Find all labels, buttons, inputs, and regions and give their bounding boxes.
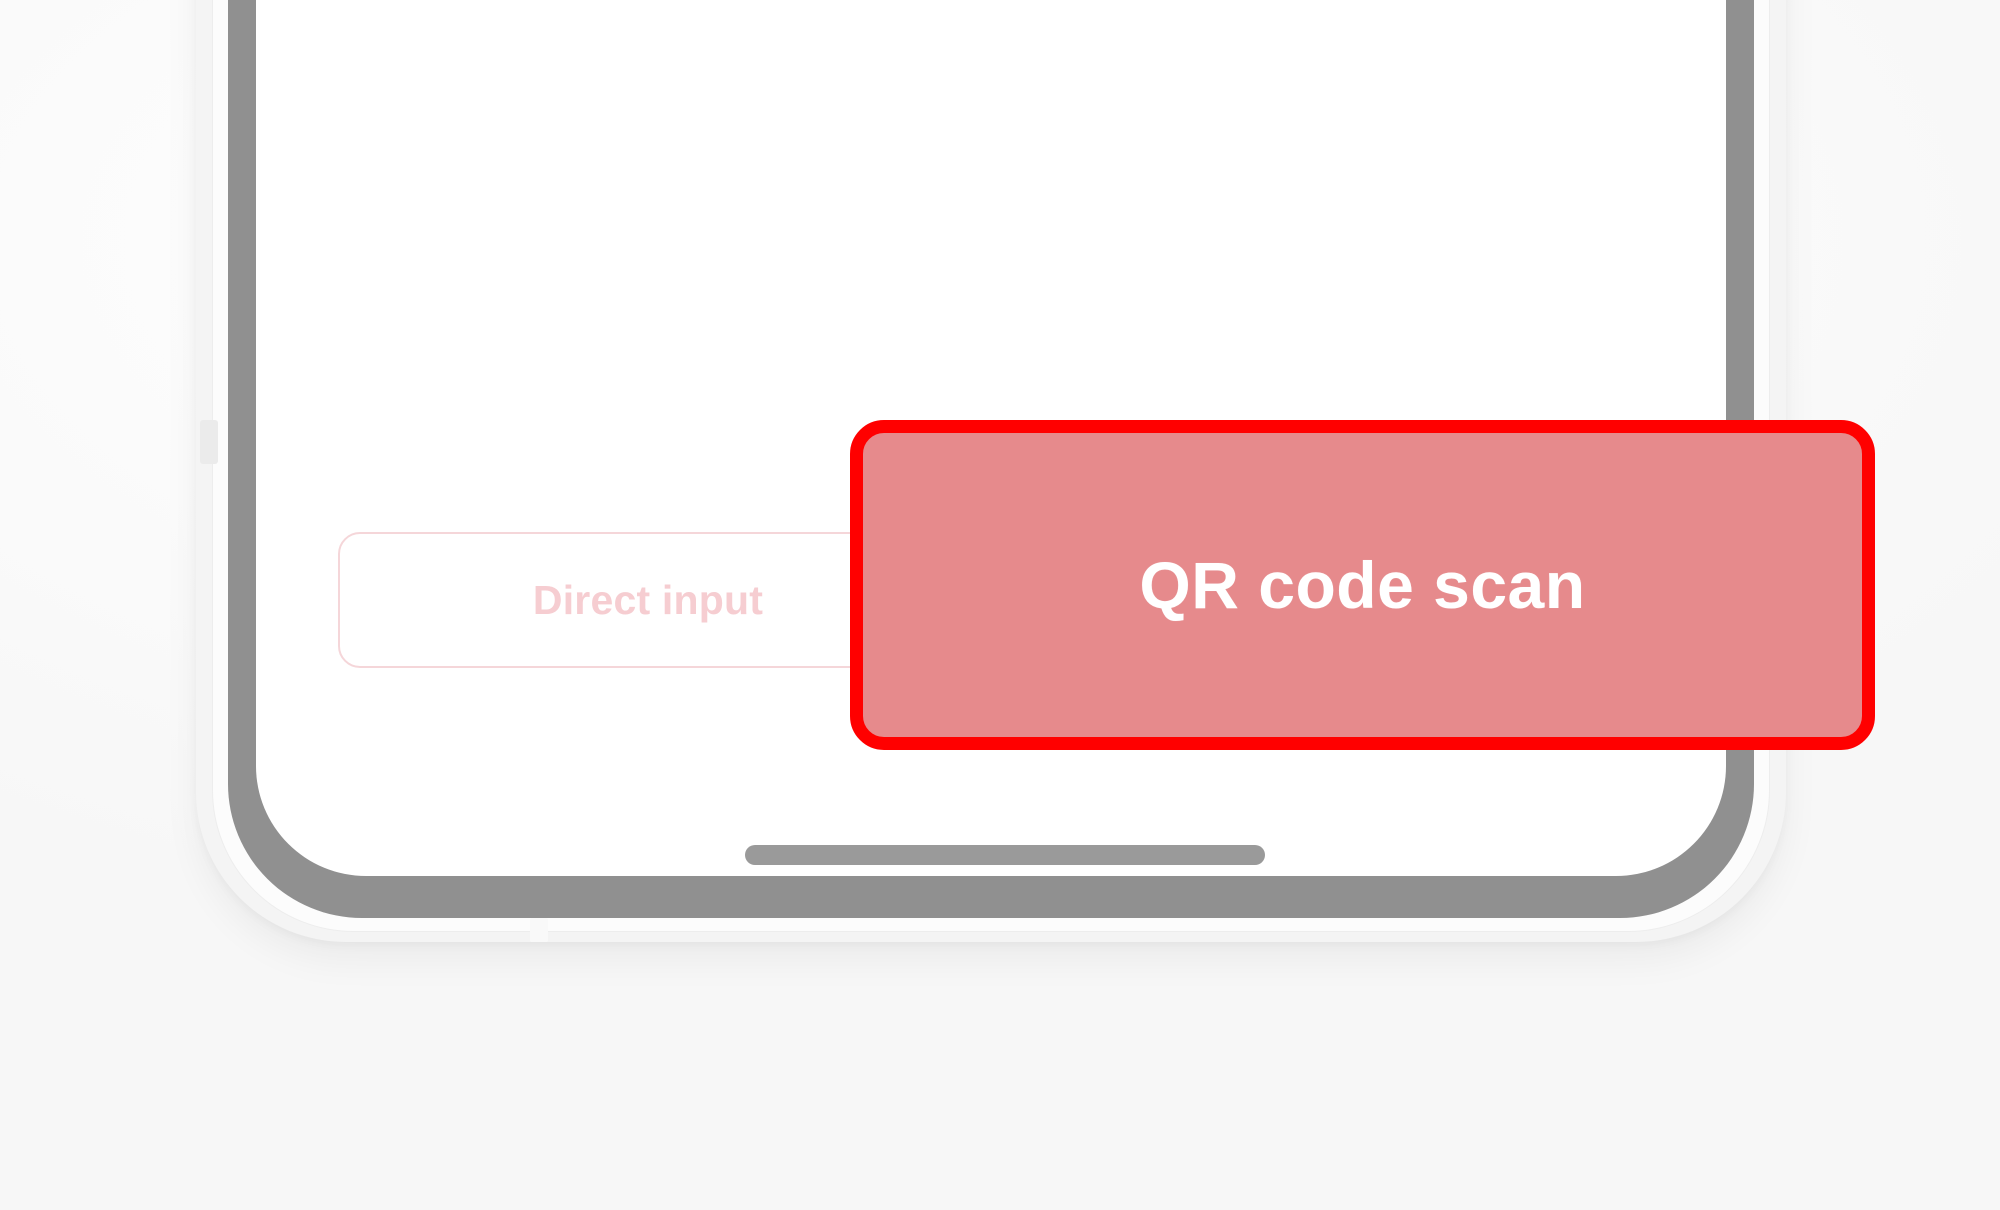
direct-input-label: Direct input	[533, 577, 763, 624]
qr-code-scan-label: QR code scan	[1139, 547, 1585, 623]
device-bottom-seam	[530, 918, 548, 942]
qr-code-scan-highlight-annotation[interactable]: QR code scan	[850, 420, 1875, 750]
device-side-button[interactable]	[200, 420, 218, 464]
home-indicator[interactable]	[745, 845, 1265, 865]
